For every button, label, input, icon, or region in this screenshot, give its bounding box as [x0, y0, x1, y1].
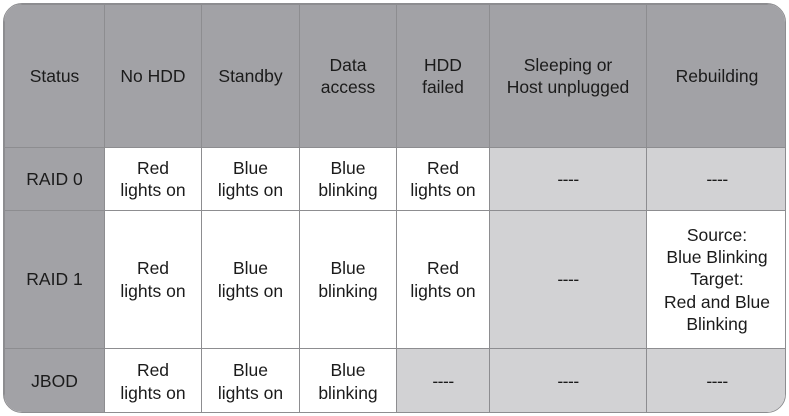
status-cell: Redlights on	[397, 211, 490, 349]
status-cell-line: ----	[651, 370, 783, 392]
status-cell-line: Blue	[304, 359, 392, 381]
status-cell: Blueblinking	[300, 148, 397, 211]
status-cell-line: lights on	[109, 280, 197, 302]
column-header-line: Data	[304, 54, 392, 76]
column-header-line: Host unplugged	[494, 76, 642, 98]
column-header-line: Standby	[206, 65, 295, 87]
status-cell-line: Blue	[304, 257, 392, 279]
row-label-0: RAID 0	[5, 148, 105, 211]
status-cell-line: Source:	[651, 224, 783, 246]
status-cell-line: ----	[494, 268, 642, 290]
status-cell-line: Blue	[206, 157, 295, 179]
status-cell: Redlights on	[105, 349, 202, 414]
status-cell-empty: ----	[490, 211, 647, 349]
status-cell-line: lights on	[206, 280, 295, 302]
status-cell-line: Red and Blue	[651, 291, 783, 313]
status-cell-line: Red	[109, 257, 197, 279]
status-cell-line: lights on	[109, 179, 197, 201]
column-header-line: Rebuilding	[651, 65, 783, 87]
status-cell-empty: ----	[647, 148, 787, 211]
status-cell-line: Red	[401, 157, 485, 179]
status-cell-empty: ----	[490, 349, 647, 414]
status-cell-line: Red	[109, 157, 197, 179]
row-label-1: RAID 1	[5, 211, 105, 349]
column-header-line: access	[304, 76, 392, 98]
status-cell-line: lights on	[109, 382, 197, 404]
status-cell: Bluelights on	[202, 211, 300, 349]
status-cell-line: Red	[401, 257, 485, 279]
raid-led-status-table: StatusNo HDDStandbyDataaccessHDDfailedSl…	[4, 4, 786, 413]
table-row: RAID 1Redlights onBluelights onBlueblink…	[5, 211, 787, 349]
column-header-4: HDDfailed	[397, 5, 490, 148]
status-cell-line: Blinking	[651, 313, 783, 335]
status-cell-line: blinking	[304, 382, 392, 404]
status-cell-empty: ----	[397, 349, 490, 414]
column-header-2: Standby	[202, 5, 300, 148]
status-cell-line: Blue	[206, 359, 295, 381]
status-cell: Blueblinking	[300, 211, 397, 349]
row-label-2: JBOD	[5, 349, 105, 414]
column-header-line: failed	[401, 76, 485, 98]
status-table-container: StatusNo HDDStandbyDataaccessHDDfailedSl…	[3, 3, 786, 413]
status-cell-line: ----	[651, 168, 783, 190]
column-header-line: Sleeping or	[494, 54, 642, 76]
column-header-line: Status	[9, 65, 100, 87]
status-cell-line: lights on	[401, 280, 485, 302]
status-cell-line: blinking	[304, 280, 392, 302]
status-cell-line: Target:	[651, 268, 783, 290]
status-cell: Redlights on	[397, 148, 490, 211]
status-cell-line: lights on	[206, 179, 295, 201]
status-cell: Bluelights on	[202, 148, 300, 211]
status-cell: Source:Blue BlinkingTarget:Red and BlueB…	[647, 211, 787, 349]
table-body: RAID 0Redlights onBluelights onBlueblink…	[5, 148, 787, 414]
status-cell-line: Red	[109, 359, 197, 381]
column-header-line: HDD	[401, 54, 485, 76]
status-cell: Blueblinking	[300, 349, 397, 414]
status-cell-empty: ----	[647, 349, 787, 414]
column-header-1: No HDD	[105, 5, 202, 148]
column-header-0: Status	[5, 5, 105, 148]
status-cell: Bluelights on	[202, 349, 300, 414]
table-header: StatusNo HDDStandbyDataaccessHDDfailedSl…	[5, 5, 787, 148]
column-header-3: Dataaccess	[300, 5, 397, 148]
status-cell-line: blinking	[304, 179, 392, 201]
status-cell-line: lights on	[206, 382, 295, 404]
status-cell-line: ----	[494, 370, 642, 392]
column-header-line: No HDD	[109, 65, 197, 87]
status-cell-line: Blue	[206, 257, 295, 279]
status-cell-line: Blue Blinking	[651, 246, 783, 268]
status-cell-line: Blue	[304, 157, 392, 179]
status-cell-empty: ----	[490, 148, 647, 211]
column-header-5: Sleeping orHost unplugged	[490, 5, 647, 148]
status-cell: Redlights on	[105, 148, 202, 211]
status-cell-line: lights on	[401, 179, 485, 201]
status-cell-line: ----	[401, 370, 485, 392]
table-header-row: StatusNo HDDStandbyDataaccessHDDfailedSl…	[5, 5, 787, 148]
table-row: JBODRedlights onBluelights onBlueblinkin…	[5, 349, 787, 414]
status-cell: Redlights on	[105, 211, 202, 349]
table-row: RAID 0Redlights onBluelights onBlueblink…	[5, 148, 787, 211]
status-cell-line: ----	[494, 168, 642, 190]
column-header-6: Rebuilding	[647, 5, 787, 148]
